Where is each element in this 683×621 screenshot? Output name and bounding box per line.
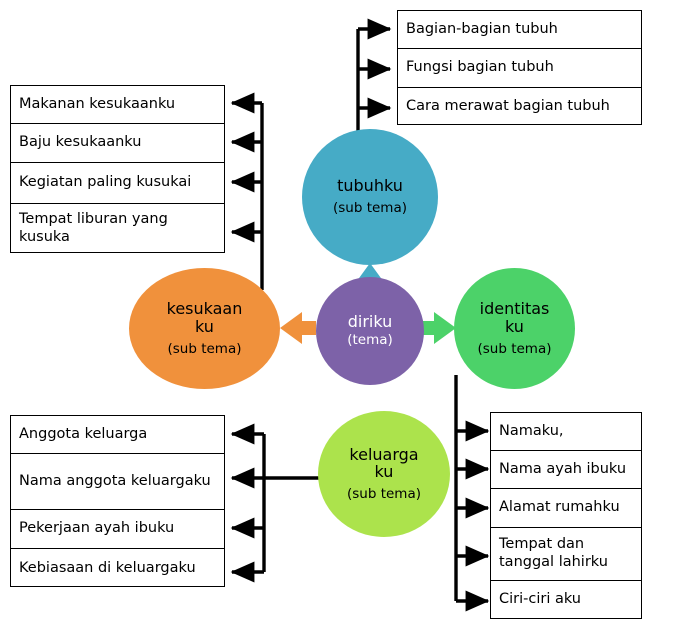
subtheme-label-line1: kesukaan [167,299,243,318]
subtheme-sublabel: (sub tema) [477,341,551,357]
subtheme-label: identitas ku [480,300,550,336]
subtheme-sublabel: (sub tema) [333,200,407,216]
subtheme-sublabel: (sub tema) [347,486,421,502]
branch-box-item[interactable]: Makanan kesukaanku [11,86,224,124]
branch-box-item[interactable]: Kegiatan paling kusukai [11,163,224,204]
branch-box-item[interactable]: Namaku, [491,413,641,451]
subtheme-circle-tubuhku[interactable]: tubuhku (sub tema) [302,129,438,265]
subtheme-label: keluarga ku [349,446,418,482]
branch-box-item[interactable]: Alamat rumahku [491,489,641,528]
branch-box-item[interactable]: Pekerjaan ayah ibuku [11,510,224,549]
center-circle-diriku[interactable]: diriku (tema) [316,277,424,385]
block-arrow-left [280,312,316,344]
branch-box-item[interactable]: Cara merawat bagian tubuh [398,88,641,126]
center-sublabel: (tema) [347,332,393,348]
subtheme-label-line1: keluarga [349,445,418,464]
branch-box-item[interactable]: Fungsi bagian tubuh [398,49,641,88]
branch-box-item[interactable]: Tempat dan tanggal lahirku [491,528,641,581]
branch-box-item[interactable]: Bagian-bagian tubuh [398,11,641,49]
center-label: diriku [348,313,393,331]
subtheme-label: kesukaan ku [167,300,243,336]
branch-boxes-tubuhku: Bagian-bagian tubuh Fungsi bagian tubuh … [397,10,642,125]
subtheme-label: tubuhku [337,177,403,195]
branch-box-item[interactable]: Nama ayah ibuku [491,451,641,489]
branch-boxes-keluargaku: Anggota keluarga Nama anggota keluargaku… [10,415,225,587]
subtheme-label-line1: identitas [480,299,550,318]
branch-box-item[interactable]: Ciri-ciri aku [491,581,641,619]
branch-boxes-kesukaanku: Makanan kesukaanku Baju kesukaanku Kegia… [10,85,225,253]
branch-boxes-identitasku: Namaku, Nama ayah ibuku Alamat rumahku T… [490,412,642,619]
branch-box-item[interactable]: Tempat liburan yang kusuka [11,204,224,254]
branch-box-item[interactable]: Anggota keluarga [11,416,224,454]
subtheme-sublabel: (sub tema) [167,341,241,357]
subtheme-circle-keluargaku[interactable]: keluarga ku (sub tema) [318,411,450,537]
concept-map-diagram: Bagian-bagian tubuh Fungsi bagian tubuh … [0,0,683,621]
branch-box-item[interactable]: Kebiasaan di keluargaku [11,549,224,588]
block-arrow-right [421,312,456,344]
subtheme-label-line2: ku [195,317,214,336]
subtheme-circle-identitasku[interactable]: identitas ku (sub tema) [454,268,575,389]
subtheme-circle-kesukaanku[interactable]: kesukaan ku (sub tema) [129,268,280,389]
branch-box-item[interactable]: Baju kesukaanku [11,124,224,163]
subtheme-label-line2: ku [375,462,394,481]
branch-box-item[interactable]: Nama anggota keluargaku [11,454,224,510]
subtheme-label-line2: ku [505,317,524,336]
